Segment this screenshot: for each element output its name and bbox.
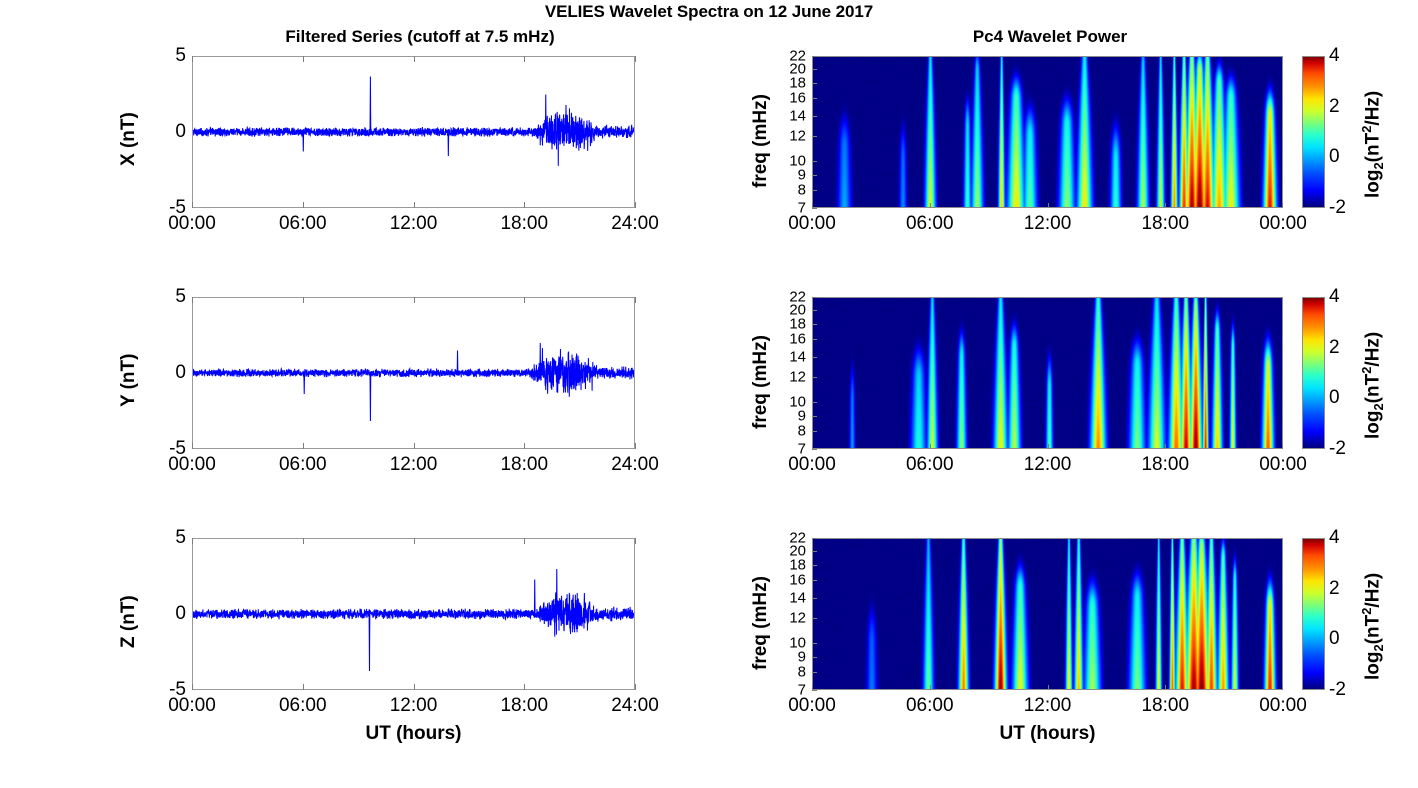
- axis-tick: [812, 69, 817, 70]
- axis-tick: [812, 357, 817, 358]
- spectrogram-xtick-label: 06:00: [906, 695, 954, 717]
- axis-tick: [303, 684, 304, 690]
- spectrogram-xlabel: UT (hours): [812, 723, 1283, 745]
- spectrogram-ytick-label: 16: [778, 572, 806, 589]
- timeseries-xtick-label: 24:00: [611, 454, 659, 476]
- colorbar-tick-label: -2: [1329, 679, 1353, 701]
- spectrogram-ytick-label: 18: [778, 556, 806, 573]
- axis-tick: [812, 56, 817, 57]
- axis-tick: [192, 538, 193, 544]
- timeseries-axes-y: [192, 297, 635, 449]
- timeseries-xtick-label: 06:00: [279, 454, 327, 476]
- axis-tick: [192, 443, 193, 449]
- timeseries-ytick-label: 0: [146, 603, 186, 625]
- colorbar: [1302, 56, 1325, 208]
- axis-tick: [812, 580, 817, 581]
- axis-tick: [192, 202, 193, 208]
- axis-tick: [812, 657, 817, 658]
- axis-tick: [812, 402, 817, 403]
- axis-tick: [812, 690, 817, 691]
- spectrogram-image: [813, 57, 1282, 207]
- axis-tick: [812, 190, 817, 191]
- spectrogram-ytick-label: 14: [778, 589, 806, 606]
- timeseries-ytick-label: 5: [146, 45, 186, 67]
- axis-tick: [524, 202, 525, 208]
- colorbar-tick-label: -2: [1329, 197, 1353, 219]
- figure-canvas: VELIES Wavelet Spectra on 12 June 2017 F…: [0, 0, 1418, 788]
- colorbar-tick-label: 4: [1329, 527, 1353, 549]
- colorbar-gradient: [1303, 57, 1324, 207]
- axis-tick: [930, 203, 931, 208]
- axis-tick: [930, 444, 931, 449]
- axis-tick: [812, 83, 817, 84]
- spectrogram-xtick-label: 00:00: [1259, 695, 1307, 717]
- axis-tick: [1165, 685, 1166, 690]
- axis-tick: [812, 161, 817, 162]
- spectrogram-ytick-label: 12: [778, 610, 806, 627]
- axis-tick: [812, 416, 817, 417]
- axis-tick: [524, 297, 525, 303]
- spectrogram-ytick-label: 12: [778, 369, 806, 386]
- spectrogram-xtick-label: 18:00: [1141, 695, 1189, 717]
- timeseries-xtick-label: 24:00: [611, 213, 659, 235]
- spectrogram-xtick-label: 00:00: [788, 695, 836, 717]
- spectrogram-image: [813, 539, 1282, 689]
- axis-tick: [303, 202, 304, 208]
- timeseries-xtick-label: 18:00: [500, 454, 548, 476]
- colorbar-tick-label: 0: [1329, 146, 1353, 168]
- colorbar-tick-label: 4: [1329, 286, 1353, 308]
- spectrogram-ytick-label: 8: [778, 664, 806, 681]
- axis-tick: [414, 443, 415, 449]
- spectrogram-xtick-label: 00:00: [788, 213, 836, 235]
- timeseries-xtick-label: 24:00: [611, 695, 659, 717]
- timeseries-xtick-label: 06:00: [279, 213, 327, 235]
- axis-tick: [414, 297, 415, 303]
- timeseries-ylabel-y: Y (nT): [118, 354, 140, 407]
- axis-tick: [635, 538, 636, 544]
- spectrogram-ytick-label: 9: [778, 407, 806, 424]
- axis-tick: [812, 208, 817, 209]
- axis-tick: [812, 643, 817, 644]
- axis-tick: [1282, 444, 1283, 449]
- axis-tick: [1048, 203, 1049, 208]
- colorbar: [1302, 297, 1325, 449]
- spectrogram-ylabel: freq (mHz): [750, 335, 772, 429]
- spectrogram-ytick-label: 8: [778, 182, 806, 199]
- spectrogram-ytick-label: 16: [778, 331, 806, 348]
- axis-tick: [812, 618, 817, 619]
- axis-tick: [812, 685, 813, 690]
- axis-tick: [303, 56, 304, 62]
- axis-tick: [635, 443, 636, 449]
- axis-tick: [192, 297, 193, 303]
- timeseries-xtick-label: 00:00: [168, 454, 216, 476]
- spectrogram-ytick-label: 9: [778, 648, 806, 665]
- colorbar-tick-label: 2: [1329, 96, 1353, 118]
- axis-tick: [812, 297, 817, 298]
- spectrogram-ytick-label: 16: [778, 90, 806, 107]
- spectrogram-ylabel: freq (mHz): [750, 94, 772, 188]
- timeseries-ylabel-z: Z (nT): [118, 595, 140, 648]
- axis-tick: [930, 685, 931, 690]
- spectrogram-image: [813, 298, 1282, 448]
- spectrogram-ytick-label: 14: [778, 348, 806, 365]
- axis-tick: [812, 672, 817, 673]
- timeseries-xtick-label: 18:00: [500, 213, 548, 235]
- axis-tick: [414, 538, 415, 544]
- spectrogram-ytick-label: 18: [778, 315, 806, 332]
- axis-tick: [303, 297, 304, 303]
- spectrogram-ytick-label: 12: [778, 128, 806, 145]
- spectrogram-axes-x: [812, 56, 1283, 208]
- axis-tick: [1048, 444, 1049, 449]
- axis-tick: [635, 297, 636, 303]
- axis-tick: [414, 684, 415, 690]
- timeseries-axes-z: [192, 538, 635, 690]
- axis-tick: [1282, 685, 1283, 690]
- timeseries-xtick-label: 06:00: [279, 695, 327, 717]
- timeseries-xtick-label: 18:00: [500, 695, 548, 717]
- axis-tick: [1165, 203, 1166, 208]
- timeseries-xtick-label: 12:00: [390, 213, 438, 235]
- colorbar-tick-label: 0: [1329, 387, 1353, 409]
- axis-tick: [812, 310, 817, 311]
- axis-tick: [812, 431, 817, 432]
- axis-tick: [524, 684, 525, 690]
- axis-tick: [812, 551, 817, 552]
- axis-tick: [812, 449, 817, 450]
- axis-tick: [812, 444, 813, 449]
- axis-tick: [812, 136, 817, 137]
- colorbar-gradient: [1303, 539, 1324, 689]
- spectrogram-axes-z: [812, 538, 1283, 690]
- spectrogram-xtick-label: 00:00: [1259, 454, 1307, 476]
- axis-tick: [635, 56, 636, 62]
- axis-tick: [812, 598, 817, 599]
- colorbar-tick-label: 2: [1329, 578, 1353, 600]
- timeseries-ytick-label: 5: [146, 527, 186, 549]
- axis-tick: [812, 116, 817, 117]
- axis-tick: [414, 56, 415, 62]
- timeseries-ytick-label: 0: [146, 362, 186, 384]
- axis-tick: [812, 324, 817, 325]
- spectrogram-xtick-label: 12:00: [1024, 695, 1072, 717]
- spectrogram-xtick-label: 00:00: [1259, 213, 1307, 235]
- spectrogram-ytick-label: 8: [778, 423, 806, 440]
- axis-tick: [192, 56, 193, 62]
- axis-tick: [524, 443, 525, 449]
- axis-tick: [812, 565, 817, 566]
- timeseries-xlabel: UT (hours): [192, 723, 635, 745]
- axis-tick: [1282, 203, 1283, 208]
- spectrogram-ytick-label: 9: [778, 166, 806, 183]
- axis-tick: [303, 443, 304, 449]
- axis-tick: [1048, 685, 1049, 690]
- axis-tick: [303, 538, 304, 544]
- spectrogram-xtick-label: 12:00: [1024, 454, 1072, 476]
- colorbar-tick-label: 2: [1329, 337, 1353, 359]
- timeseries-xtick-label: 00:00: [168, 695, 216, 717]
- spectrogram-ylabel: freq (mHz): [750, 576, 772, 670]
- colorbar-gradient: [1303, 298, 1324, 448]
- timeseries-ylabel-x: X (nT): [118, 112, 140, 166]
- axis-tick: [812, 339, 817, 340]
- axis-tick: [414, 202, 415, 208]
- spectrogram-xtick-label: 00:00: [788, 454, 836, 476]
- colorbar-label: log2(nT2/Hz): [1359, 91, 1386, 198]
- colorbar-label: log2(nT2/Hz): [1359, 332, 1386, 439]
- spectrogram-ytick-label: 14: [778, 107, 806, 124]
- spectrogram-ytick-label: 18: [778, 74, 806, 91]
- axis-tick: [812, 377, 817, 378]
- timeseries-ytick-label: 0: [146, 121, 186, 143]
- timeseries-xtick-label: 12:00: [390, 695, 438, 717]
- axis-tick: [1165, 444, 1166, 449]
- spectrogram-xtick-label: 06:00: [906, 454, 954, 476]
- right-column-title: Pc4 Wavelet Power: [800, 27, 1300, 47]
- axis-tick: [635, 202, 636, 208]
- spectrogram-xtick-label: 12:00: [1024, 213, 1072, 235]
- colorbar-tick-label: -2: [1329, 438, 1353, 460]
- spectrogram-xtick-label: 18:00: [1141, 454, 1189, 476]
- axis-tick: [812, 175, 817, 176]
- colorbar-tick-label: 0: [1329, 628, 1353, 650]
- axis-tick: [192, 684, 193, 690]
- left-column-title: Filtered Series (cutoff at 7.5 mHz): [130, 27, 710, 47]
- colorbar-tick-label: 4: [1329, 45, 1353, 67]
- spectrogram-axes-y: [812, 297, 1283, 449]
- axis-tick: [812, 98, 817, 99]
- axis-tick: [524, 56, 525, 62]
- figure-suptitle: VELIES Wavelet Spectra on 12 June 2017: [0, 2, 1418, 22]
- spectrogram-xtick-label: 06:00: [906, 213, 954, 235]
- axis-tick: [524, 538, 525, 544]
- colorbar-label: log2(nT2/Hz): [1359, 573, 1386, 680]
- axis-tick: [812, 538, 817, 539]
- timeseries-xtick-label: 12:00: [390, 454, 438, 476]
- axis-tick: [635, 684, 636, 690]
- timeseries-axes-x: [192, 56, 635, 208]
- spectrogram-xtick-label: 18:00: [1141, 213, 1189, 235]
- timeseries-ytick-label: 5: [146, 286, 186, 308]
- timeseries-xtick-label: 00:00: [168, 213, 216, 235]
- axis-tick: [812, 203, 813, 208]
- colorbar: [1302, 538, 1325, 690]
